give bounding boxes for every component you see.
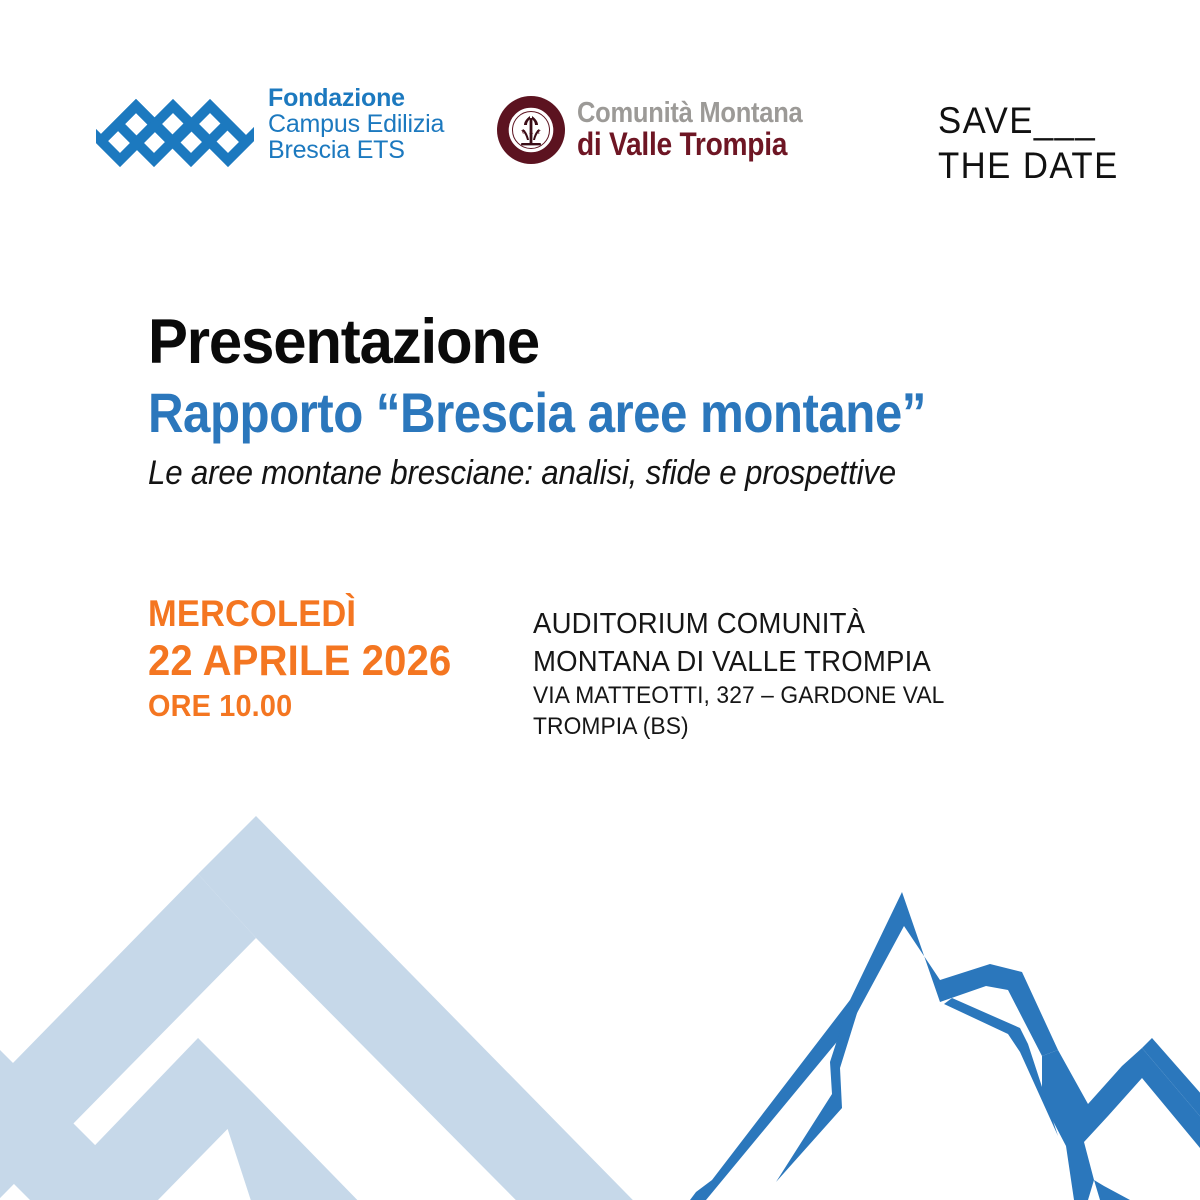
svg-text:A: A <box>529 130 534 136</box>
logo-fondazione-campus-edilizia: Fondazione Campus Edilizia Brescia ETS <box>96 80 444 168</box>
event-weekday: MERCOLEDÌ <box>148 592 506 636</box>
svg-text:T: T <box>537 130 541 136</box>
poster-header: Fondazione Campus Edilizia Brescia ETS <box>0 0 1200 230</box>
venue-address-line2: TROMPIA (BS) <box>533 712 1060 743</box>
event-time: ORE 10.00 <box>148 686 506 726</box>
woven-diamond-pattern-icon <box>96 80 254 168</box>
event-venue-block: AUDITORIUM COMUNITÀ MONTANA DI VALLE TRO… <box>533 592 1088 743</box>
report-description: Le aree montane bresciane: analisi, sfid… <box>148 453 1050 493</box>
logo-fondazione-line3: Brescia ETS <box>268 137 444 163</box>
logo-fondazione-text: Fondazione Campus Edilizia Brescia ETS <box>268 85 444 163</box>
logo-fondazione-line2: Campus Edilizia <box>268 111 444 137</box>
svg-text:V: V <box>521 130 526 136</box>
event-date: 22 APRILE 2026 <box>148 636 506 687</box>
logo-comunita-montana-valle-trompia: VAT Comunità Montana di Valle Trompia <box>495 94 833 166</box>
page-title: Presentazione <box>148 310 1079 376</box>
save-the-date-line2: THE DATE <box>938 143 1119 188</box>
chevron-weave-pattern-decoration <box>0 790 640 1200</box>
logo-fondazione-line1: Fondazione <box>268 85 444 111</box>
event-info-row: MERCOLEDÌ 22 APRILE 2026 ORE 10.00 AUDIT… <box>148 592 1088 743</box>
main-title-block: Presentazione Rapporto “Brescia aree mon… <box>148 310 1128 493</box>
venue-name-line2: MONTANA DI VALLE TROMPIA <box>533 644 1060 682</box>
circular-seal-icon: VAT <box>495 94 567 166</box>
logo-comunita-montana-line1: Comunità Montana <box>577 99 802 129</box>
event-datetime-block: MERCOLEDÌ 22 APRILE 2026 ORE 10.00 <box>148 592 533 743</box>
venue-name-line1: AUDITORIUM COMUNITÀ <box>533 606 1060 644</box>
save-the-date-block: SAVE___ THE DATE <box>938 98 1130 188</box>
report-subtitle: Rapporto “Brescia aree montane” <box>148 382 1010 444</box>
mountain-outline-graphic <box>690 880 1200 1200</box>
logo-comunita-montana-text: Comunità Montana di Valle Trompia <box>577 99 833 161</box>
venue-address-line1: VIA MATTEOTTI, 327 – GARDONE VAL <box>533 681 1060 712</box>
save-the-date-line1: SAVE___ <box>938 98 1119 143</box>
logo-comunita-montana-line2: di Valle Trompia <box>577 128 802 161</box>
poster-canvas: Fondazione Campus Edilizia Brescia ETS <box>0 0 1200 1200</box>
